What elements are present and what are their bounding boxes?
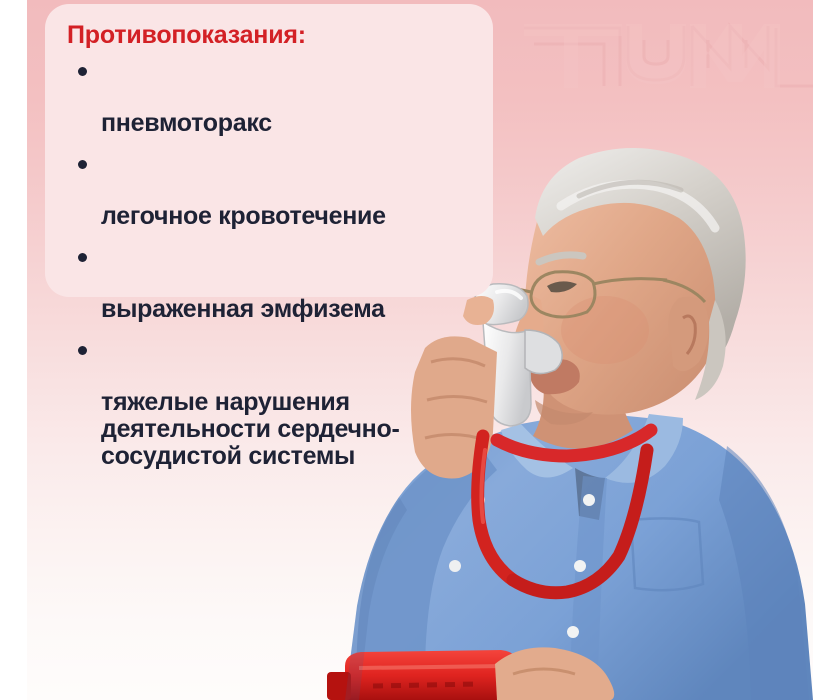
list-item-label: выраженная эмфизема <box>101 295 385 323</box>
bullet-dot-icon <box>78 346 87 355</box>
list-item-label: пневмоторакс <box>101 109 272 137</box>
cheek-shading <box>561 296 649 364</box>
contraindications-list: пневмоторакс легочное кровотечение выраж… <box>65 56 473 470</box>
bullet-dot-icon <box>78 160 87 169</box>
list-item: тяжелые нарушения деятельности сердечно-… <box>65 335 473 470</box>
list-item: пневмоторакс <box>65 56 473 137</box>
card-title: Противопоказания: <box>67 22 473 50</box>
right-white-margin <box>813 0 840 700</box>
list-item: выраженная эмфизема <box>65 242 473 323</box>
left-white-margin <box>0 0 27 700</box>
bullet-dot-icon <box>78 253 87 262</box>
shirt-button <box>583 494 595 506</box>
list-item-label: легочное кровотечение <box>101 202 386 230</box>
shirt-button <box>567 626 579 638</box>
shirt-button <box>574 560 586 572</box>
contraindications-card: Противопоказания: пневмоторакс легочное … <box>45 4 493 297</box>
shirt-button-pocket <box>449 560 461 572</box>
bullet-dot-icon <box>78 67 87 76</box>
infographic-canvas: Противопоказания: пневмоторакс легочное … <box>0 0 840 700</box>
list-item: легочное кровотечение <box>65 149 473 230</box>
list-item-label: тяжелые нарушения деятельности сердечно-… <box>101 388 399 470</box>
